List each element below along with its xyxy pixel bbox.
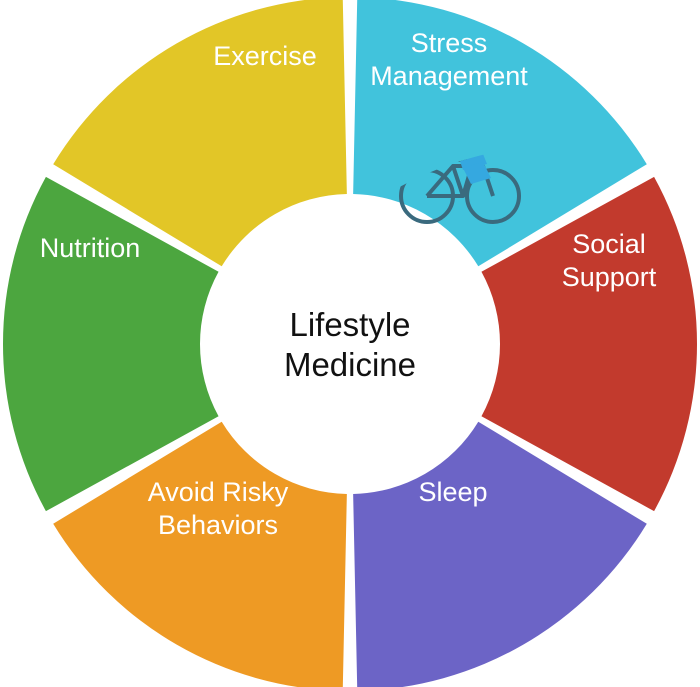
segment-label-exercise-line-1: Exercise <box>213 41 317 71</box>
wheel-svg: z Z Z <box>0 0 700 687</box>
segment-label-stress-line-2: Management <box>370 61 528 91</box>
center-title-line-2: Medicine <box>284 346 416 383</box>
segment-label-nutrition-line-1: Nutrition <box>40 233 141 263</box>
center-title-line-1: Lifestyle <box>289 306 410 343</box>
lifestyle-medicine-wheel: z Z Z <box>0 0 700 687</box>
segment-label-sleep: Sleep <box>418 477 487 507</box>
segment-label-social-line-1: Social <box>572 229 646 259</box>
segment-label-sleep-line-1: Sleep <box>418 477 487 507</box>
segment-label-nutrition: Nutrition <box>40 233 141 263</box>
segment-label-exercise: Exercise <box>213 41 317 71</box>
wheel-segments <box>3 0 697 687</box>
segment-label-social-line-2: Support <box>562 262 657 292</box>
center-hub: Lifestyle Medicine <box>284 306 416 383</box>
segment-label-stress-line-1: Stress <box>411 28 488 58</box>
segment-label-risky-line-2: Behaviors <box>158 510 278 540</box>
segment-label-risky-line-1: Avoid Risky <box>148 477 289 507</box>
